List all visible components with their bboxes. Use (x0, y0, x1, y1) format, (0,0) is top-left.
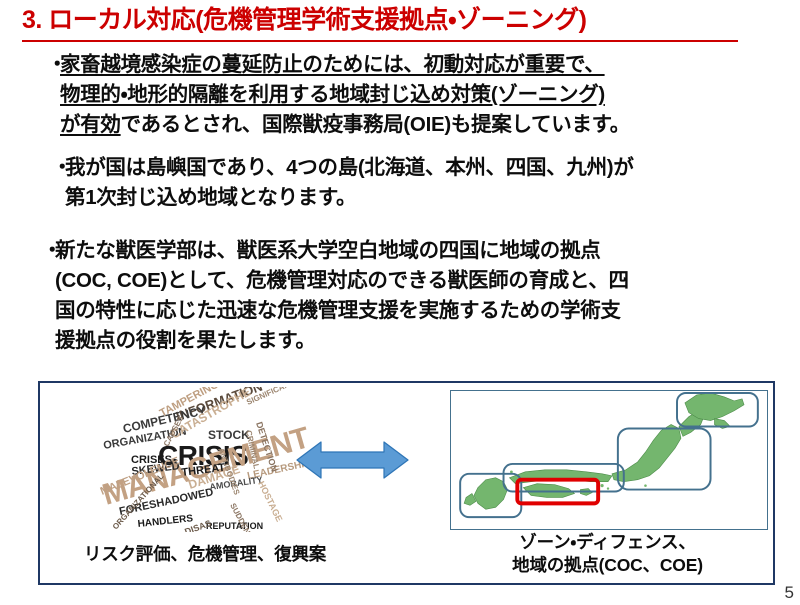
title-underline-rule (22, 40, 738, 42)
paragraph-1-line-1: 家畜越境感染症の蔓延防止のためには、初動対応が重要で、 (60, 50, 758, 80)
bullet-paragraph-1: ・家畜越境感染症の蔓延防止のためには、初動対応が重要で、物理的・地形的隔離を利用… (47, 50, 767, 140)
word-cloud-image: CRISIS MANAGEMENT INFORMATION COMPETENCY… (98, 387, 313, 532)
bullet-marker: ・ (52, 153, 65, 183)
svg-text:HOSTAGE: HOSTAGE (256, 479, 284, 523)
paragraph-3-line-3: 国の特性に応じた迅速な危機管理支援を実施するための学術支 (55, 296, 765, 326)
bullet-paragraph-2: ・我が国は島嶼国であり、4つの島(北海道、本州、四国、九州)が第1次封じ込め地域… (52, 153, 766, 213)
paragraph-3-line-1: 新たな獣医学部は、獣医系大学空白地域の四国に地域の拠点 (55, 236, 765, 266)
figure-caption-left: リスク評価、危機管理、復興案 (70, 543, 340, 566)
svg-text:REPUTATION: REPUTATION (206, 521, 263, 531)
paragraph-1-line-3: が有効であるとされ、国際獣疫事務局(OIE)も提案しています。 (60, 110, 758, 140)
bullet-marker: ・ (47, 50, 60, 80)
figure-caption-right-line-2: 地域の拠点(COC、COE) (435, 554, 780, 577)
bullet-paragraph-3: ・新たな獣医学部は、獣医系大学空白地域の四国に地域の拠点(COC, COE)とし… (42, 236, 772, 356)
bullet-paragraph-2-text: 我が国は島嶼国であり、4つの島(北海道、本州、四国、九州)が第1次封じ込め地域と… (65, 153, 755, 213)
bullet-marker: ・ (42, 236, 55, 266)
slide-title-area: 3. ローカル対応(危機管理学術支援拠点・ゾーニング) (22, 4, 778, 36)
japan-zoning-map (450, 390, 768, 530)
figure-caption-right: ゾーン・ディフェンス、 地域の拠点(COC、COE) (435, 531, 780, 577)
paragraph-1-line-3-plain: であるとされ、国際獣疫事務局(OIE)も提案しています。 (121, 113, 630, 136)
paragraph-3-line-2: (COC, COE)として、危機管理対応のできる獣医師の育成と、四 (55, 266, 765, 296)
page-title: 3. ローカル対応(危機管理学術支援拠点・ゾーニング) (22, 4, 778, 36)
figure-panel: CRISIS MANAGEMENT INFORMATION COMPETENCY… (38, 381, 775, 585)
svg-text:STOCK: STOCK (208, 428, 250, 442)
bullet-paragraph-3-text: 新たな獣医学部は、獣医系大学空白地域の四国に地域の拠点(COC, COE)として… (55, 236, 765, 356)
double-arrow-icon (295, 436, 410, 484)
paragraph-3-line-4: 援拠点の役割を果たします。 (55, 326, 765, 356)
page-number: 5 (785, 583, 794, 603)
figure-content: CRISIS MANAGEMENT INFORMATION COMPETENCY… (40, 383, 773, 583)
paragraph-1-line-3-underlined: が有効 (60, 113, 121, 136)
paragraph-2-line-1: 我が国は島嶼国であり、4つの島(北海道、本州、四国、九州)が (65, 153, 755, 183)
slide-root: 3. ローカル対応(危機管理学術支援拠点・ゾーニング) ・家畜越境感染症の蔓延防… (0, 0, 800, 605)
figure-caption-right-line-1: ゾーン・ディフェンス、 (435, 531, 780, 554)
paragraph-2-line-2: 第1次封じ込め地域となります。 (65, 183, 755, 213)
bullet-paragraph-1-text: 家畜越境感染症の蔓延防止のためには、初動対応が重要で、物理的・地形的隔離を利用す… (60, 50, 758, 140)
paragraph-1-line-2: 物理的・地形的隔離を利用する地域封じ込め対策(ゾーニング) (60, 80, 758, 110)
